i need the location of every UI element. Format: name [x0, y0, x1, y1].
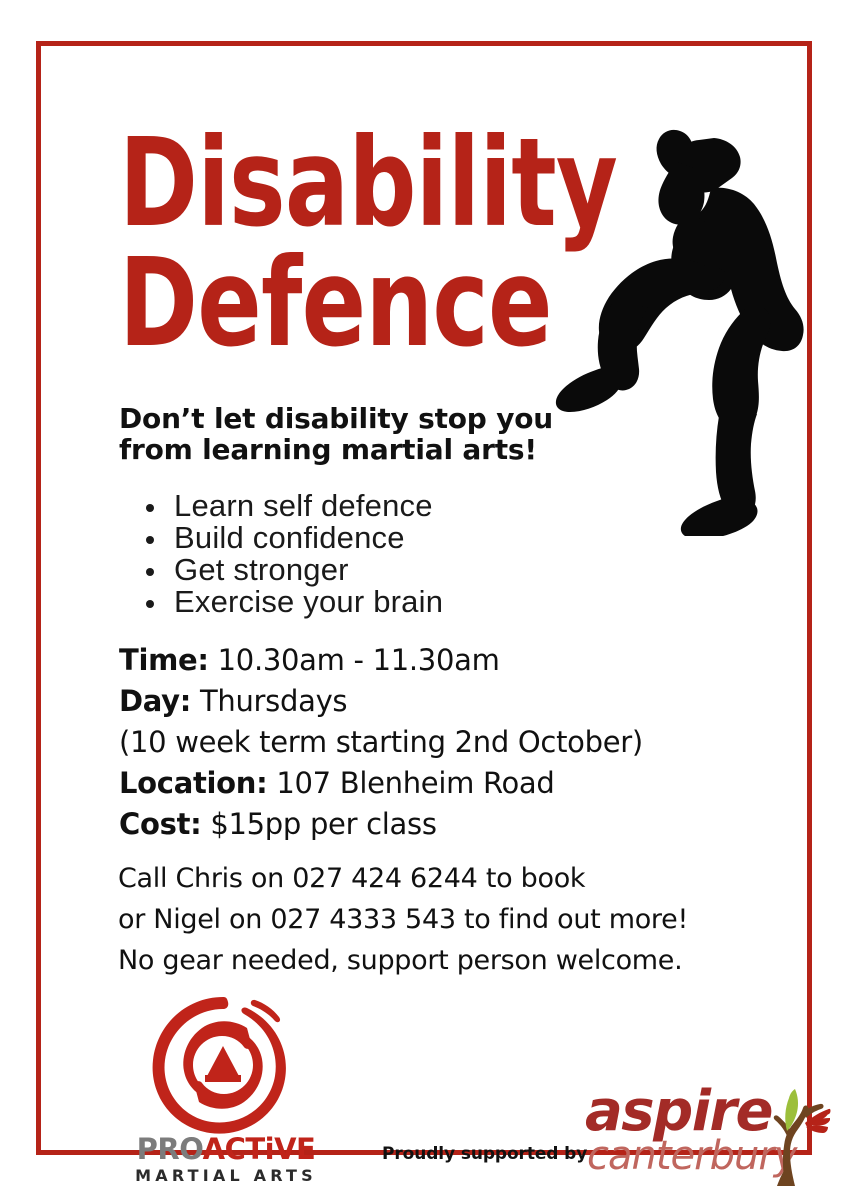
- contact-line-nigel: or Nigel on 027 4333 543 to find out mor…: [118, 899, 688, 940]
- term-note: (10 week term starting 2nd October): [119, 722, 643, 763]
- cost-label: Cost:: [119, 807, 201, 841]
- list-item: Build confidence: [141, 522, 443, 554]
- detail-row-day: Day: Thursdays: [119, 681, 643, 722]
- cost-value: $15pp per class: [201, 807, 436, 841]
- benefit-label: Build confidence: [174, 520, 405, 555]
- contact-line-chris: Call Chris on 027 424 6244 to book: [118, 858, 688, 899]
- proactive-wordmark: PROACTiVE: [121, 1134, 331, 1164]
- aspire-wordmark: aspire: [585, 1084, 772, 1140]
- tree-sprout-icon: [759, 1082, 831, 1188]
- proactive-martial-arts-logo: PROACTiVE MARTIAL ARTS: [121, 994, 331, 1186]
- aspire-canterbury-logo: aspire canterbury: [577, 1082, 827, 1188]
- benefit-label: Exercise your brain: [174, 584, 443, 619]
- list-item: Get stronger: [141, 554, 443, 586]
- list-item: Learn self defence: [141, 490, 443, 522]
- benefit-label: Learn self defence: [174, 488, 433, 523]
- subtitle-line-1: Don’t let disability stop you: [119, 403, 659, 434]
- day-label: Day:: [119, 684, 191, 718]
- page-title: Disability Defence: [119, 124, 486, 363]
- contact-line-gear: No gear needed, support person welcome.: [118, 940, 688, 981]
- subtitle: Don’t let disability stop you from learn…: [119, 403, 659, 465]
- detail-row-location: Location: 107 Blenheim Road: [119, 763, 643, 804]
- location-value: 107 Blenheim Road: [267, 766, 554, 800]
- subtitle-line-2: from learning martial arts!: [119, 434, 659, 465]
- supported-by-label: Proudly supported by: [382, 1144, 587, 1164]
- time-label: Time:: [119, 643, 209, 677]
- enso-brush-circle-icon: [143, 994, 303, 1136]
- wordmark-active: ACTiVE: [203, 1132, 316, 1166]
- time-value: 10.30am - 11.30am: [209, 643, 500, 677]
- day-value: Thursdays: [191, 684, 347, 718]
- class-details: Time: 10.30am - 11.30am Day: Thursdays (…: [119, 640, 643, 845]
- contact-block: Call Chris on 027 424 6244 to book or Ni…: [118, 858, 688, 981]
- list-item: Exercise your brain: [141, 586, 443, 618]
- benefits-list: Learn self defence Build confidence Get …: [141, 490, 443, 618]
- detail-row-cost: Cost: $15pp per class: [119, 804, 643, 845]
- poster-frame: Disability Defence: [36, 41, 812, 1155]
- detail-row-time: Time: 10.30am - 11.30am: [119, 640, 643, 681]
- location-label: Location:: [119, 766, 267, 800]
- benefit-label: Get stronger: [174, 552, 349, 587]
- headline-line-1: Disability: [119, 124, 486, 244]
- headline-line-2: Defence: [119, 244, 486, 364]
- wordmark-pro: PRO: [137, 1132, 203, 1166]
- proactive-tagline: MARTIAL ARTS: [121, 1166, 331, 1185]
